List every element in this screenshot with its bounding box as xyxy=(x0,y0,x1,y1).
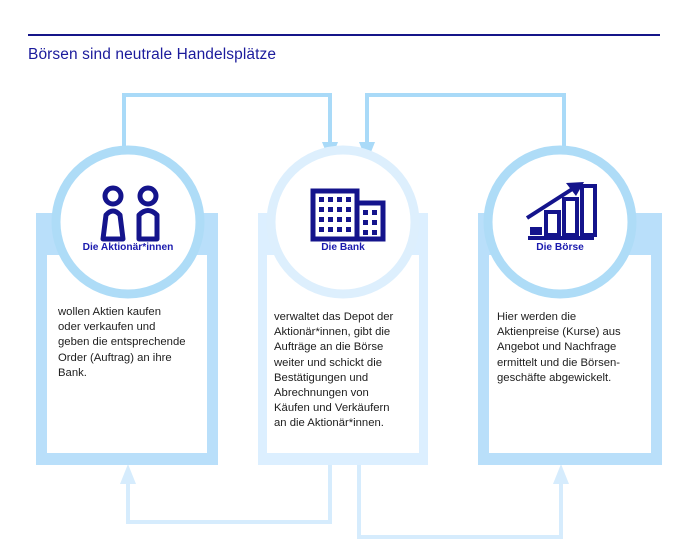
arrow-auftrag-bank-to-boerse xyxy=(359,464,569,537)
diagram-canvas: Börsen sind neutrale Handelsplätze xyxy=(0,0,690,560)
column-aktionaere-circle xyxy=(56,150,200,294)
column-bank-label: Die Bank xyxy=(321,242,365,253)
diagram-artwork xyxy=(0,0,690,560)
column-aktionaere-label: Die Aktionär*innen xyxy=(83,242,174,253)
column-bank-text: verwaltet das Depot der Aktionär*innen, … xyxy=(274,310,426,432)
column-boerse-label: Die Börse xyxy=(536,242,584,253)
column-bank-circle xyxy=(271,150,415,294)
arrow-bestaetigung-bank-to-aktionaere xyxy=(120,464,330,522)
column-boerse-text: Hier werden die Aktienpreise (Kurse) aus… xyxy=(497,310,649,386)
column-aktionaere-text: wollen Aktien kaufen oder verkaufen und … xyxy=(58,305,208,381)
column-boerse xyxy=(478,150,662,465)
